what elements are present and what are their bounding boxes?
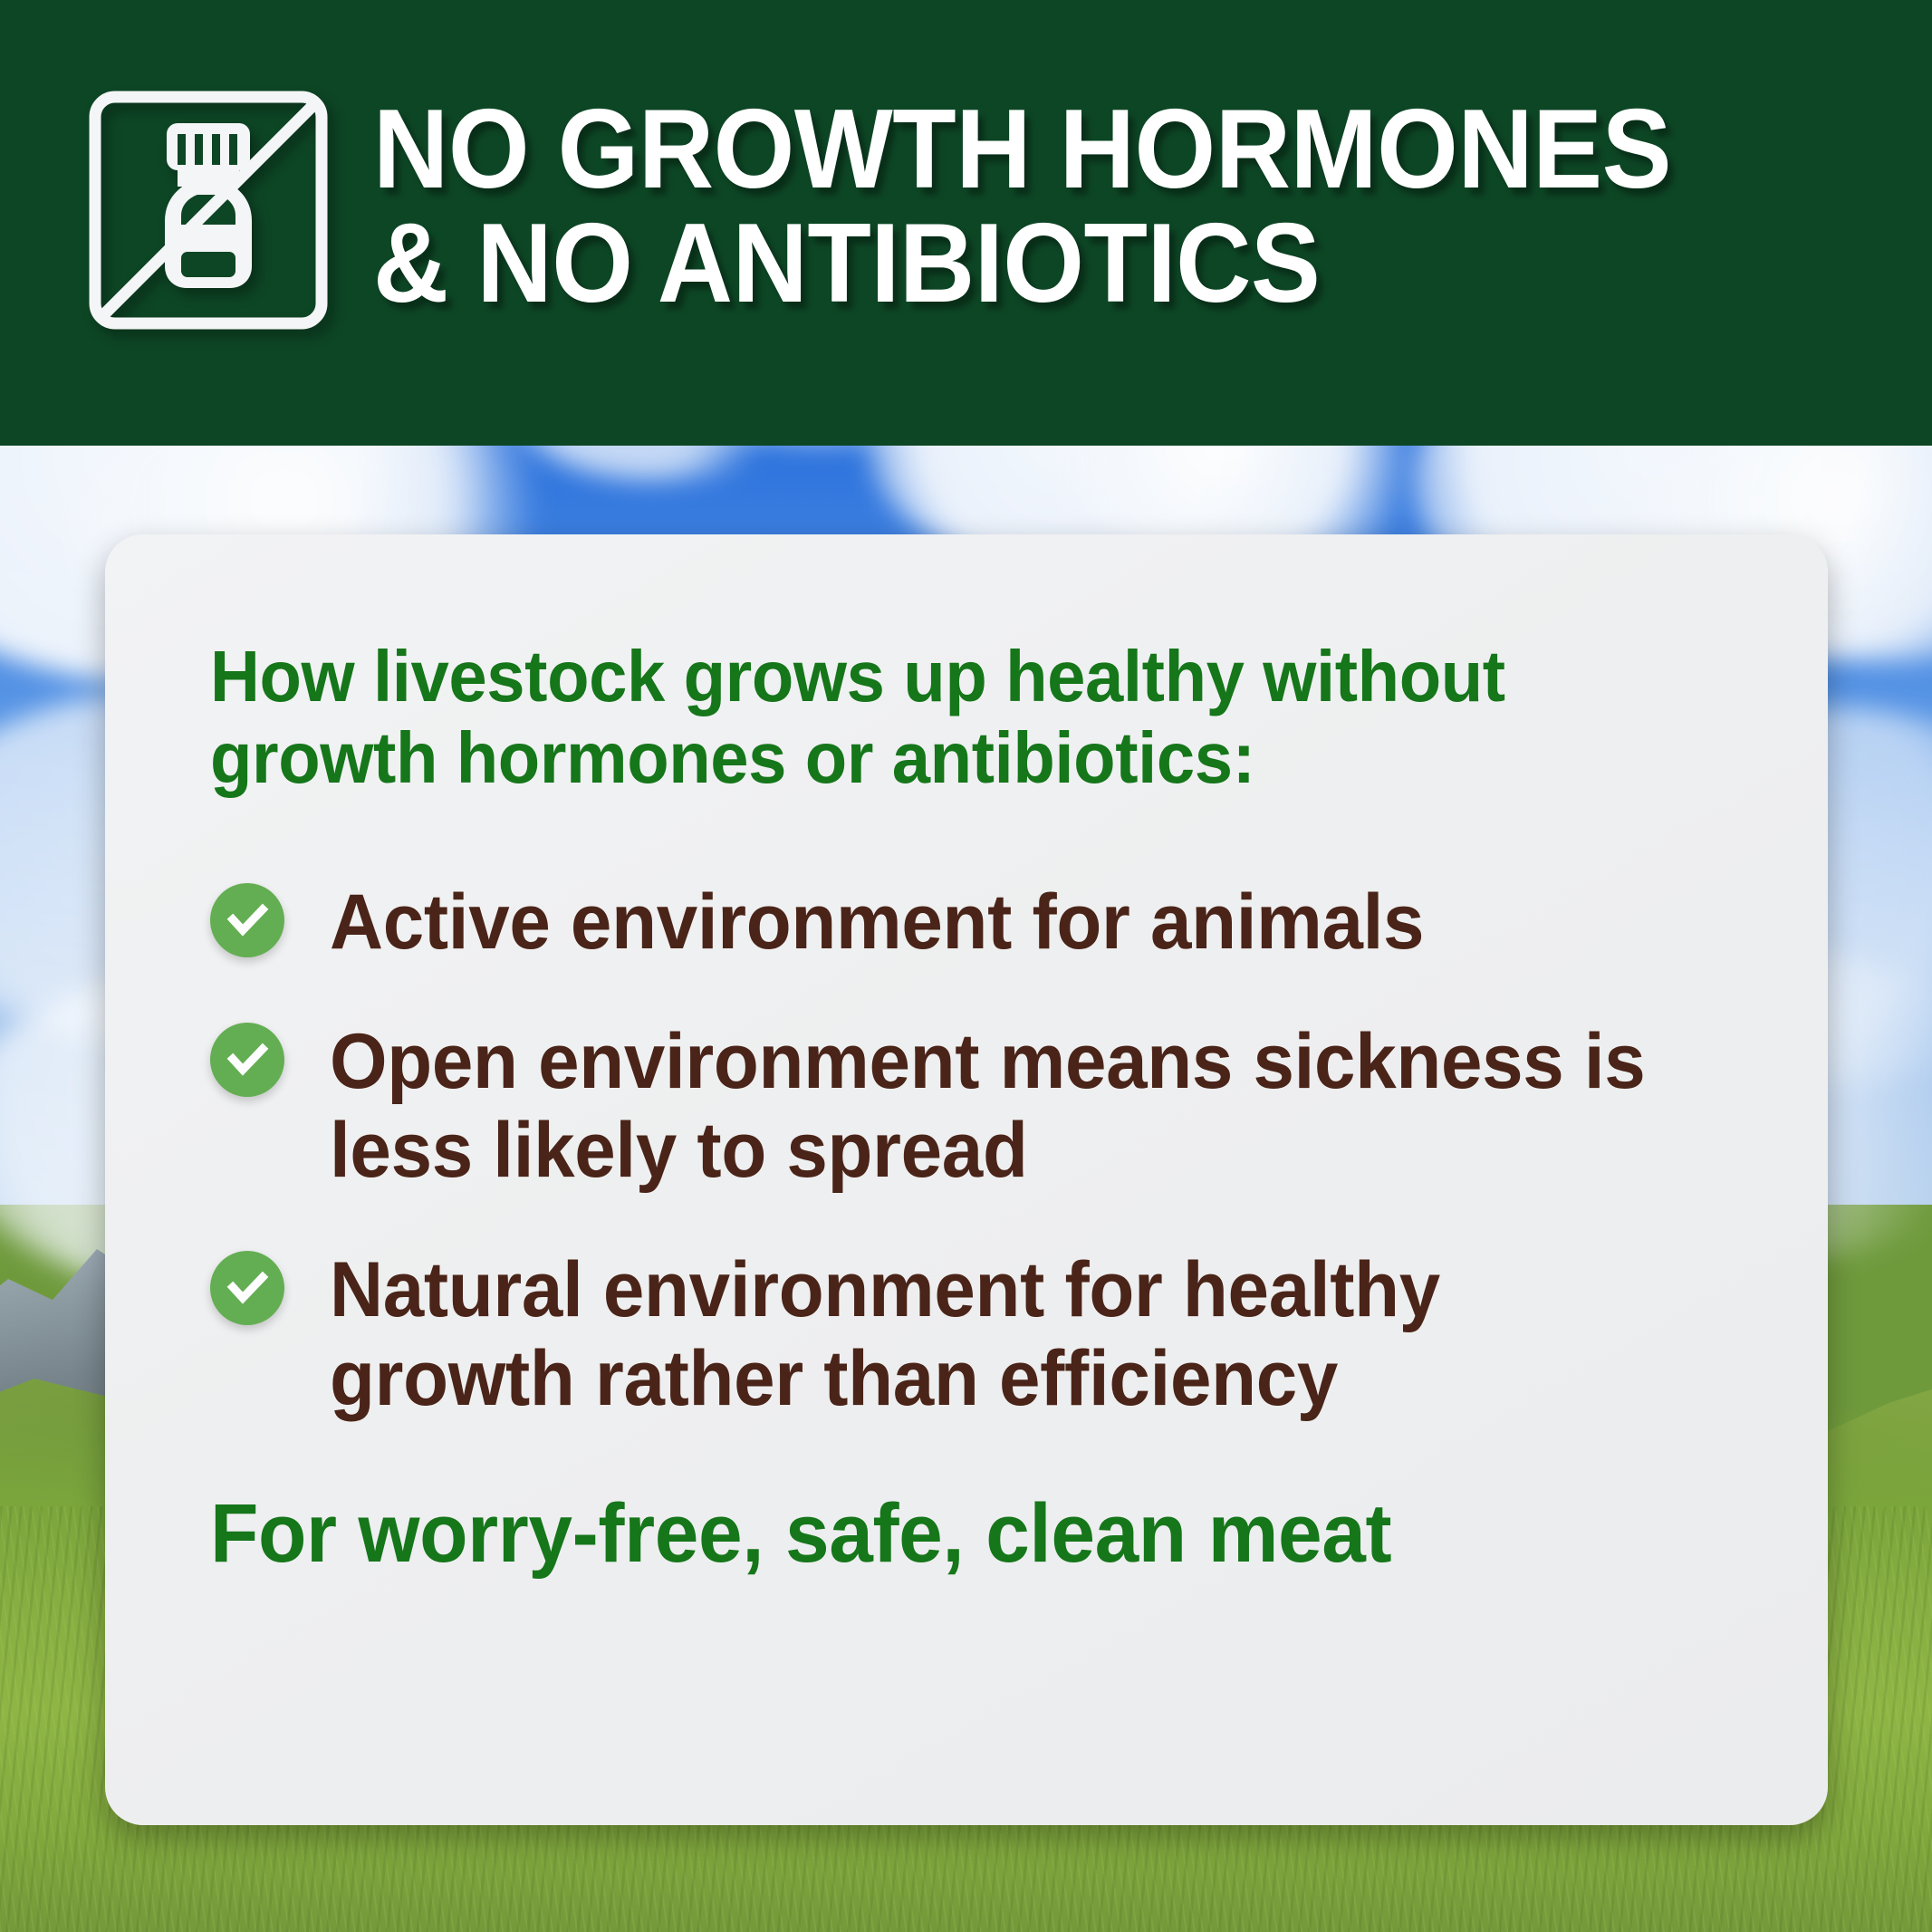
page-title: NO GROWTH HORMONES & NO ANTIBIOTICS xyxy=(373,89,1671,322)
list-item: Natural environment for healthy growth r… xyxy=(210,1244,1741,1423)
check-circle-icon xyxy=(210,1023,284,1097)
content-card: How livestock grows up healthy without g… xyxy=(105,534,1828,1825)
benefit-label: Natural environment for healthy growth r… xyxy=(330,1244,1670,1423)
list-item: Open environment means sickness is less … xyxy=(210,1015,1741,1195)
card-footer-tagline: For worry-free, safe, clean meat xyxy=(210,1488,1665,1580)
list-item: Active environment for animals xyxy=(210,876,1741,966)
promo-poster: NO GROWTH HORMONES & NO ANTIBIOTICS How … xyxy=(0,0,1932,1932)
benefit-label: Active environment for animals xyxy=(330,876,1424,966)
benefit-label: Open environment means sickness is less … xyxy=(330,1015,1670,1195)
check-circle-icon xyxy=(210,883,284,957)
header-band: NO GROWTH HORMONES & NO ANTIBIOTICS xyxy=(0,0,1932,446)
no-medicine-bottle-icon xyxy=(87,89,330,332)
benefit-list: Active environment for animals Open envi… xyxy=(210,876,1741,1423)
check-circle-icon xyxy=(210,1251,284,1325)
card-heading: How livestock grows up healthy without g… xyxy=(210,636,1665,800)
